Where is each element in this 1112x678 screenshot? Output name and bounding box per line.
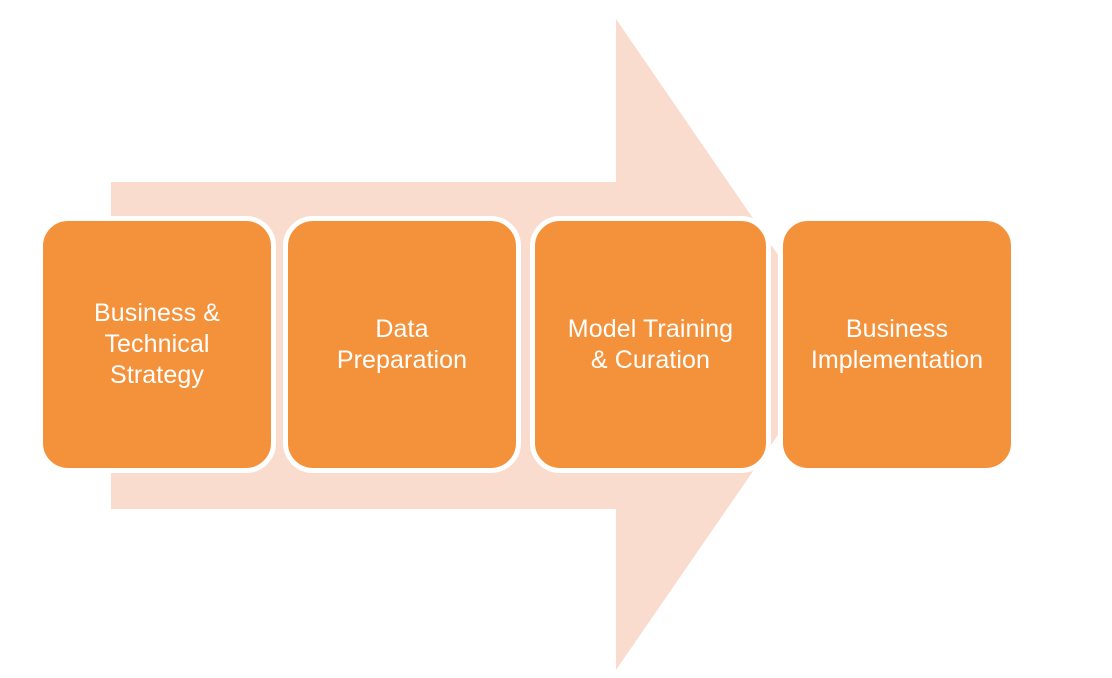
stage-box-row: Business & Technical Strategy Data Prepa… (0, 0, 1112, 678)
stage-label-1: Business & Technical Strategy (86, 298, 228, 391)
stage-box-model-training-curation[interactable]: Model Training & Curation (530, 216, 771, 473)
stage-box-business-technical-strategy[interactable]: Business & Technical Strategy (38, 216, 276, 473)
stage-box-data-preparation[interactable]: Data Preparation (283, 216, 521, 473)
stage-label-4: Business Implementation (803, 314, 991, 376)
stage-box-business-implementation[interactable]: Business Implementation (778, 216, 1016, 473)
stage-label-3: Model Training & Curation (560, 314, 741, 376)
stage-label-2: Data Preparation (329, 314, 475, 376)
process-flow-diagram: Business & Technical Strategy Data Prepa… (0, 0, 1112, 678)
